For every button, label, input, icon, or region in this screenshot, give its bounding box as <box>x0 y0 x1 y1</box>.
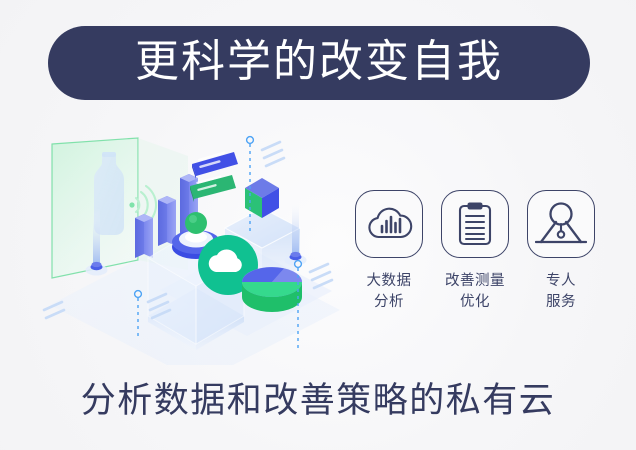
feature-item-big-data[interactable]: 大数据 分析 <box>352 190 426 330</box>
feature-item-dedicated-service[interactable]: 专人 服务 <box>524 190 598 330</box>
footer-tagline: 分析数据和改善策略的私有云 <box>0 382 636 421</box>
cloud-bar-chart-icon <box>365 204 413 244</box>
clipboard-lines-icon <box>455 201 495 247</box>
feature-icon-frame <box>527 190 595 258</box>
feature-label: 专人 服务 <box>546 271 576 312</box>
feature-icon-frame <box>441 190 509 258</box>
hero-illustration <box>40 120 360 365</box>
header-banner: 更科学的改变自我 <box>48 26 590 100</box>
isometric-cube <box>245 178 279 218</box>
3d-pie-chart <box>242 267 302 312</box>
blue-info-card <box>192 151 238 179</box>
poster-canvas: 更科学的改变自我 <box>0 0 636 450</box>
feature-item-measure-optimize[interactable]: 改善测量 优化 <box>438 190 512 330</box>
feature-label: 大数据 分析 <box>367 271 412 312</box>
feature-label: 改善测量 优化 <box>445 271 505 312</box>
banner-title: 更科学的改变自我 <box>135 40 503 84</box>
feature-list: 大数据 分析 改善测量 优化 <box>352 190 598 330</box>
feature-icon-frame <box>355 190 423 258</box>
support-person-icon <box>535 201 587 247</box>
